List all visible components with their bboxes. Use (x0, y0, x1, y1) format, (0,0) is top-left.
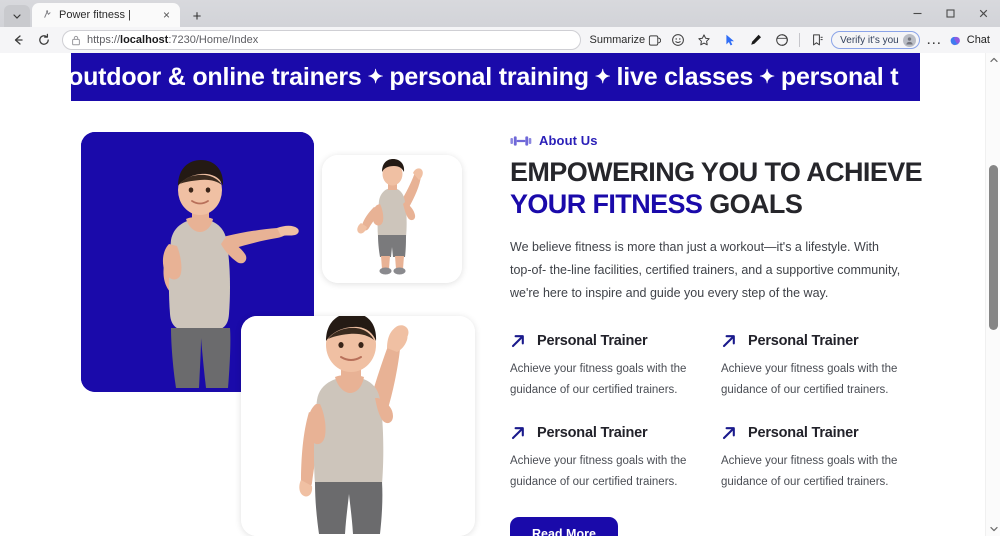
verify-identity-button[interactable]: Verify it's you (831, 31, 920, 49)
marquee-separator-icon: ✦ (362, 67, 390, 88)
about-copy: About Us EMPOWERING YOU TO ACHIEVE YOUR … (470, 101, 985, 536)
scroll-up-arrow-icon[interactable] (986, 53, 1000, 67)
marquee-item-0: outdoor & online trainers (71, 63, 362, 91)
verify-label: Verify it's you (840, 35, 899, 46)
reload-button[interactable] (32, 29, 56, 51)
marquee-banner: outdoor & online trainers✦personal train… (71, 53, 920, 101)
arrow-up-right-icon (510, 333, 526, 349)
browser-tab[interactable]: Power fitness | × (32, 3, 180, 27)
maximize-button[interactable] (934, 0, 967, 27)
marquee-separator-icon: ✦ (753, 67, 781, 88)
dumbbell-icon (510, 134, 532, 148)
eyebrow-label: About Us (539, 133, 598, 148)
tab-close-icon[interactable]: × (159, 8, 174, 23)
marquee-item-2: live classes (617, 63, 754, 91)
trainer-photo-large (241, 316, 475, 536)
feature-description: Achieve your fitness goals with the guid… (510, 359, 699, 401)
section-eyebrow: About Us (510, 133, 985, 148)
copilot-chat-button[interactable]: Chat (948, 33, 994, 48)
lock-icon (71, 35, 81, 46)
page-title: EMPOWERING YOU TO ACHIEVE YOUR FITNESS G… (510, 157, 985, 220)
close-button[interactable] (967, 0, 1000, 27)
summarize-label: Summarize (590, 34, 646, 46)
arrow-up-right-icon (510, 425, 526, 441)
cursor-pointer-icon[interactable] (718, 29, 742, 51)
feature-description: Achieve your fitness goals with the guid… (721, 451, 910, 493)
back-button[interactable] (6, 29, 30, 51)
marquee-item-1: personal training (389, 63, 588, 91)
feature-title: Personal Trainer (748, 333, 858, 349)
marquee-text: outdoor & online trainers✦personal train… (71, 63, 898, 92)
headline-line-1: EMPOWERING YOU TO ACHIEVE (510, 157, 922, 187)
new-tab-button[interactable]: + (185, 5, 209, 27)
browser-toolbar: https://localhost:7230/Home/Index Summar… (0, 27, 1000, 53)
title-bar: Power fitness | × + (0, 0, 1000, 27)
copilot-icon (948, 33, 963, 48)
site-favicon (41, 9, 53, 21)
feature-title: Personal Trainer (537, 425, 647, 441)
tab-list-chevron-icon[interactable] (4, 5, 30, 27)
address-bar[interactable]: https://localhost:7230/Home/Index (62, 30, 581, 50)
read-more-button[interactable]: Read More (510, 517, 618, 536)
toolbar-divider (799, 33, 800, 47)
feature-item[interactable]: Personal Trainer Achieve your fitness go… (510, 425, 699, 493)
headline-tail: GOALS (709, 189, 802, 219)
address-bar-url: https://localhost:7230/Home/Index (87, 34, 258, 46)
arrow-up-right-icon (721, 425, 737, 441)
image-collage (0, 101, 470, 536)
window-controls (901, 0, 1000, 27)
browser-window: Power fitness | × + (0, 0, 1000, 536)
emoji-feedback-icon[interactable] (666, 29, 690, 51)
favorite-star-icon[interactable] (692, 29, 716, 51)
about-section: About Us EMPOWERING YOU TO ACHIEVE YOUR … (0, 101, 985, 536)
feature-header: Personal Trainer (510, 333, 699, 349)
headline-accent: YOUR FITNESS (510, 189, 702, 219)
feature-header: Personal Trainer (721, 425, 910, 441)
scroll-down-arrow-icon[interactable] (986, 522, 1000, 536)
feature-description: Achieve your fitness goals with the guid… (721, 359, 910, 401)
feature-item[interactable]: Personal Trainer Achieve your fitness go… (510, 333, 699, 401)
feature-grid: Personal Trainer Achieve your fitness go… (510, 333, 910, 493)
summarize-button[interactable]: Summarize (587, 34, 665, 47)
chat-label: Chat (967, 34, 990, 46)
tab-title: Power fitness | (59, 9, 153, 21)
page-scrollbar[interactable] (985, 53, 1000, 536)
collections-icon[interactable] (805, 29, 829, 51)
arrow-up-right-icon (721, 333, 737, 349)
summarize-icon (648, 34, 661, 47)
feature-title: Personal Trainer (748, 425, 858, 441)
feature-title: Personal Trainer (537, 333, 647, 349)
feature-item[interactable]: Personal Trainer Achieve your fitness go… (721, 425, 910, 493)
trainer-photo-small (322, 155, 462, 283)
about-paragraph: We believe fitness is more than just a w… (510, 236, 902, 304)
feature-description: Achieve your fitness goals with the guid… (510, 451, 699, 493)
scrollbar-thumb[interactable] (989, 165, 998, 330)
pen-annotate-icon[interactable] (744, 29, 768, 51)
profile-avatar-icon (903, 34, 916, 47)
settings-more-button[interactable]: … (922, 29, 946, 51)
minimize-button[interactable] (901, 0, 934, 27)
feature-item[interactable]: Personal Trainer Achieve your fitness go… (721, 333, 910, 401)
feature-header: Personal Trainer (510, 425, 699, 441)
browser-essentials-icon[interactable] (770, 29, 794, 51)
page-viewport: outdoor & online trainers✦personal train… (0, 53, 1000, 536)
marquee-item-3: personal t (781, 63, 898, 91)
marquee-separator-icon: ✦ (589, 67, 617, 88)
feature-header: Personal Trainer (721, 333, 910, 349)
